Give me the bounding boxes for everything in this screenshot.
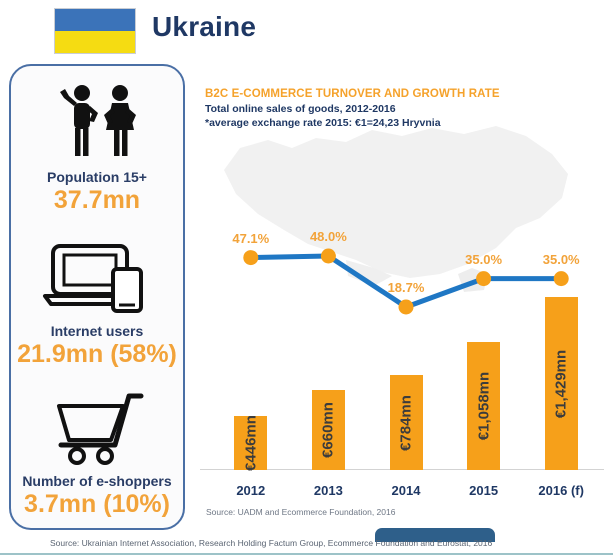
chart-source-note: Source: UADM and Ecommerce Foundation, 2… — [206, 507, 395, 517]
chart-bar-value-label: €660mn — [320, 402, 337, 458]
x-axis-tick-label: 2013 — [290, 483, 368, 498]
chart-plot: €446mn€660mn€784mn€1,058mn€1,429mn201220… — [196, 64, 608, 530]
x-axis-tick-label: 2014 — [367, 483, 445, 498]
infographic-page: Ukraine — [0, 0, 613, 557]
chart-bar-value-label: €1,058mn — [475, 372, 492, 440]
page-title: Ukraine — [152, 11, 256, 43]
stat-population-value: 37.7mn — [11, 186, 183, 215]
flag-band-yellow — [55, 31, 135, 53]
chart-panel: B2C E-COMMERCE TURNOVER AND GROWTH RATE … — [196, 64, 608, 530]
chart-bar-value-label: €1,429mn — [553, 349, 570, 417]
chart-bar: €1,429mn — [545, 297, 578, 470]
footer-divider — [0, 553, 613, 555]
growth-rate-label: 35.0% — [465, 252, 502, 267]
stat-internet-users: Internet users 21.9mn (58%) — [11, 234, 183, 369]
flag-band-blue — [55, 9, 135, 31]
chart-bar-value-label: €446mn — [242, 415, 259, 471]
ukraine-flag-icon — [54, 8, 136, 54]
chart-bar: €1,058mn — [467, 342, 500, 470]
chart-bar: €660mn — [312, 390, 345, 470]
stat-eshoppers-label: Number of e-shoppers — [11, 474, 183, 489]
laptop-mobile-icon — [11, 234, 183, 318]
growth-rate-marker — [321, 249, 336, 264]
growth-rate-label: 35.0% — [543, 252, 580, 267]
growth-rate-marker — [399, 300, 414, 315]
chart-bar-value-label: €784mn — [398, 395, 415, 451]
growth-rate-marker — [476, 271, 491, 286]
x-axis-tick-label: 2012 — [212, 483, 290, 498]
chart-bar: €446mn — [234, 416, 267, 470]
stat-internet-users-label: Internet users — [11, 324, 183, 339]
people-icon — [11, 80, 183, 164]
stat-population-label: Population 15+ — [11, 170, 183, 185]
growth-rate-label: 18.7% — [388, 280, 425, 295]
x-axis-tick-label: 2016 (f) — [522, 483, 600, 498]
growth-rate-marker — [554, 271, 569, 286]
growth-rate-label: 47.1% — [232, 231, 269, 246]
chart-bar: €784mn — [390, 375, 423, 470]
growth-rate-marker — [243, 250, 258, 265]
stat-eshoppers: Number of e-shoppers 3.7mn (10%) — [11, 384, 183, 519]
stat-internet-users-value: 21.9mn (58%) — [11, 340, 183, 369]
shopping-cart-icon — [11, 384, 183, 468]
footer-source-note: Source: Ukrainian Internet Association, … — [50, 538, 492, 548]
x-axis-tick-label: 2015 — [445, 483, 523, 498]
stats-panel: Population 15+ 37.7mn Internet users 21.… — [9, 64, 185, 530]
stat-eshoppers-value: 3.7mn (10%) — [11, 490, 183, 519]
stat-population: Population 15+ 37.7mn — [11, 80, 183, 215]
page-header: Ukraine — [0, 0, 613, 58]
growth-rate-label: 48.0% — [310, 229, 347, 244]
